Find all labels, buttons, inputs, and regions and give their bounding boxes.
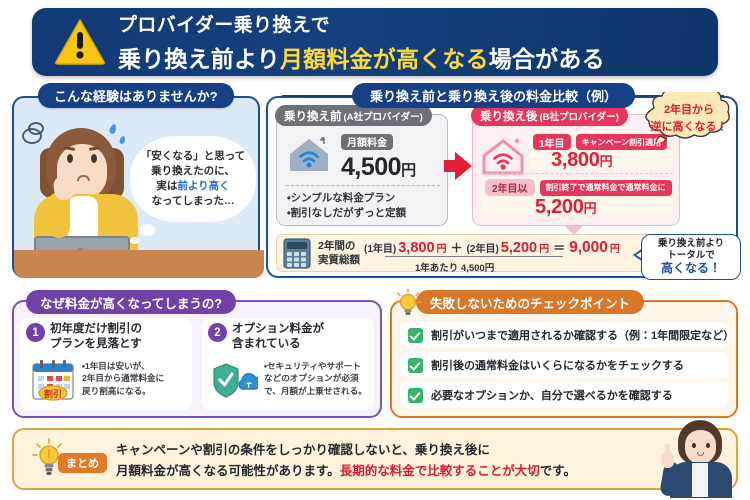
header-line2-post: 場合がある — [489, 46, 605, 72]
after-year2-tags: 2年目以 割引終了で通常料金で通常料金に — [485, 179, 672, 196]
total-bubble-line2: トータルで — [667, 250, 715, 262]
tab-line-left — [282, 95, 354, 97]
after-year2-tag: 2年目以 — [485, 179, 535, 196]
cloud-bubble-text: 2年目から 逆に高くなる！ — [636, 92, 742, 142]
calendar-discount-icon: 割引 — [30, 358, 76, 402]
checkpoints-tab-label: 失敗しないためのチェックポイント — [416, 290, 644, 314]
why-item-1: 1 初年度だけ割引のプランを見落とす 割引 ・1年目は安いが、2年目から通常 — [20, 318, 192, 410]
thought-line2: 乗り換えたのに、 — [151, 165, 235, 178]
after-card-subtitle: (B社プロバイダー) — [540, 109, 619, 123]
header-text-group: プロバイダー乗り換えで 乗り換え前より月額料金が高くなる場合がある — [118, 10, 605, 74]
after-year2-price: 5,200円 — [535, 196, 596, 219]
after-year1-tag: 1年目 — [533, 134, 571, 150]
total-per-year: 1年あたり 4,500円 — [415, 260, 494, 274]
calculator-icon — [283, 238, 311, 269]
before-card-title: 乗り換え前 — [284, 108, 342, 124]
total-equals: ＝ — [553, 239, 565, 256]
before-bullet-1: ・割引なしだがずっと定額 — [287, 206, 406, 221]
total-label-line1: 2年間の — [318, 239, 360, 253]
check-icon-0 — [408, 328, 423, 343]
summary-line1: キャンペーンや割引の条件をしっかり確認しないと、乗り換え後に — [116, 440, 576, 461]
experience-tab-label: こんな経験はありませんか? — [38, 83, 234, 108]
thought-line3: 実は前より高く — [156, 180, 229, 193]
before-price: 4,500円 — [341, 153, 416, 182]
wifi-house-icon-after — [481, 137, 525, 177]
total-y2-label: (2年目) — [467, 240, 499, 255]
right-arrow-icon — [455, 152, 472, 180]
total-bubble-line3: 高くなる！ — [661, 261, 721, 276]
before-price-tag: 月額料金 — [341, 134, 393, 150]
summary-text: キャンペーンや割引の条件をしっかり確認しないと、乗り換え後に 月額料金が高くなる… — [116, 440, 576, 483]
total-y2-value: 5,200 — [501, 240, 537, 256]
total-label-line2: 実質総額 — [318, 253, 360, 267]
total-y1-value: 3,800 — [398, 240, 434, 256]
total-y1-unit: 円 — [437, 240, 447, 255]
thought-line1: 「安くなる」と思って — [141, 150, 245, 163]
header-line2: 乗り換え前より月額料金が高くなる場合がある — [118, 40, 605, 74]
experience-illustration: 「安くなる」と思って 乗り換えたのに、 実は前より高く なってしまった… — [14, 98, 258, 276]
warning-triangle-icon — [54, 18, 106, 66]
experience-panel: 「安くなる」と思って 乗り換えたのに、 実は前より高く なってしまった… — [12, 96, 260, 278]
pointing-woman-avatar — [660, 418, 740, 496]
thought-bubble: 「安くなる」と思って 乗り換えたのに、 実は前より高く なってしまった… — [130, 136, 256, 222]
check-icon-1 — [408, 358, 423, 373]
checkpoint-text-0: 割引がいつまで適用されるか確認する（例：1年間限定など） — [431, 327, 734, 343]
checkpoint-text-1: 割引後の通常料金はいくらになるかをチェックする — [431, 357, 684, 373]
wifi-house-icon — [287, 135, 331, 175]
why-tab-label: なぜ料金が高くなってしまうの? — [26, 290, 236, 314]
header-line1: プロバイダー乗り換えで — [118, 10, 605, 37]
checkpoint-row-1: 割引後の通常料金はいくらになるかをチェックする — [400, 352, 728, 378]
checkpoint-text-2: 必要なオプションか、自分で選べるかを確認する — [431, 387, 673, 403]
after-year2-note: 割引終了で通常料金で通常料金に — [540, 180, 672, 196]
total-y2-unit: 円 — [539, 240, 549, 255]
header-line2-pre: 乗り換え前より — [118, 46, 280, 72]
before-bullet-0: ・シンプルな料金プラン — [287, 191, 406, 206]
header-line2-emphasis: 月額料金が高くなる — [280, 46, 489, 72]
thought-bubble-dot-small — [130, 237, 139, 244]
after-year1-price: 3,800円 — [551, 149, 612, 172]
summary-badge: まとめ — [58, 453, 107, 473]
thought-line4: なってしまった… — [151, 195, 234, 208]
shield-cloud-icon — [212, 358, 258, 402]
cloud-bubble-line1: 2年目から — [664, 101, 714, 117]
check-icon-2 — [408, 388, 423, 403]
total-calculation: (1年目) 3,800円 ＋ (2年目) 5,200円 ＝ 9,000円 — [364, 239, 620, 257]
svg-text:割引: 割引 — [44, 388, 62, 400]
header-banner: プロバイダー乗り換えで 乗り換え前より月額料金が高くなる場合がある — [32, 8, 718, 76]
total-sum-unit: 円 — [610, 240, 620, 255]
why-item-1-number: 1 — [26, 323, 45, 342]
comparison-tab-label: 乗り換え前と乗り換え後の料金比較（例） — [352, 83, 635, 108]
checkpoint-row-0: 割引がいつまで適用されるか確認する（例：1年間限定など） — [400, 322, 728, 348]
lightbulb-icon — [393, 288, 423, 318]
why-item-1-desc: ・1年目は安いが、2年目から通常料金に戻り割高になる。 — [82, 360, 186, 397]
before-divider — [286, 185, 440, 186]
before-plan-card: 乗り換え前(A社プロバイダー) 月額料金 4,500円 ・シンプルな料金プラン … — [276, 114, 448, 226]
checkpoint-row-2: 必要なオプションか、自分で選べるかを確認する — [400, 382, 728, 408]
cloud-speech-bubble: 2年目から 逆に高くなる！ — [636, 92, 742, 142]
why-item-2-title: オプション料金が含まれている — [232, 322, 370, 352]
total-speech-bubble: 乗り換え前より トータルで 高くなる！ — [641, 234, 741, 280]
summary-line2: 月額料金が高くなる可能性があります。長期的な料金で比較することが大切です。 — [116, 461, 576, 482]
after-card-title: 乗り換え後 — [480, 108, 538, 124]
cloud-bubble-line2: 逆に高くなる！ — [651, 118, 728, 134]
thought-bubble-dot-large — [140, 224, 155, 236]
before-price-area: 月額料金 4,500円 — [341, 133, 416, 182]
total-plus: ＋ — [451, 239, 463, 256]
why-item-1-title: 初年度だけ割引のプランを見落とす — [50, 322, 188, 352]
before-card-subtitle: (A社プロバイダー) — [344, 109, 423, 123]
infographic-page: プロバイダー乗り換えで 乗り換え前より月額料金が高くなる場合がある — [0, 0, 750, 500]
desk — [14, 250, 264, 278]
after-divider — [481, 173, 673, 174]
why-item-2: 2 オプション料金が含まれている ・セキュリティやサポートなどのオプションが必須… — [202, 318, 374, 410]
total-y1-label: (1年目) — [364, 240, 396, 255]
before-bullets: ・シンプルな料金プラン ・割引なしだがずっと定額 — [287, 191, 406, 221]
total-label: 2年間の 実質総額 — [318, 239, 360, 267]
after-card-header: 乗り換え後(B社プロバイダー) — [471, 105, 628, 126]
why-item-2-desc: ・セキュリティやサポートなどのオプションが必須で、月額が上乗せされる。 — [264, 360, 368, 397]
total-bubble-line1: 乗り換え前より — [658, 238, 724, 250]
why-item-2-number: 2 — [208, 323, 227, 342]
total-sum-value: 9,000 — [569, 239, 608, 257]
before-card-header: 乗り換え前(A社プロバイダー) — [275, 105, 432, 126]
